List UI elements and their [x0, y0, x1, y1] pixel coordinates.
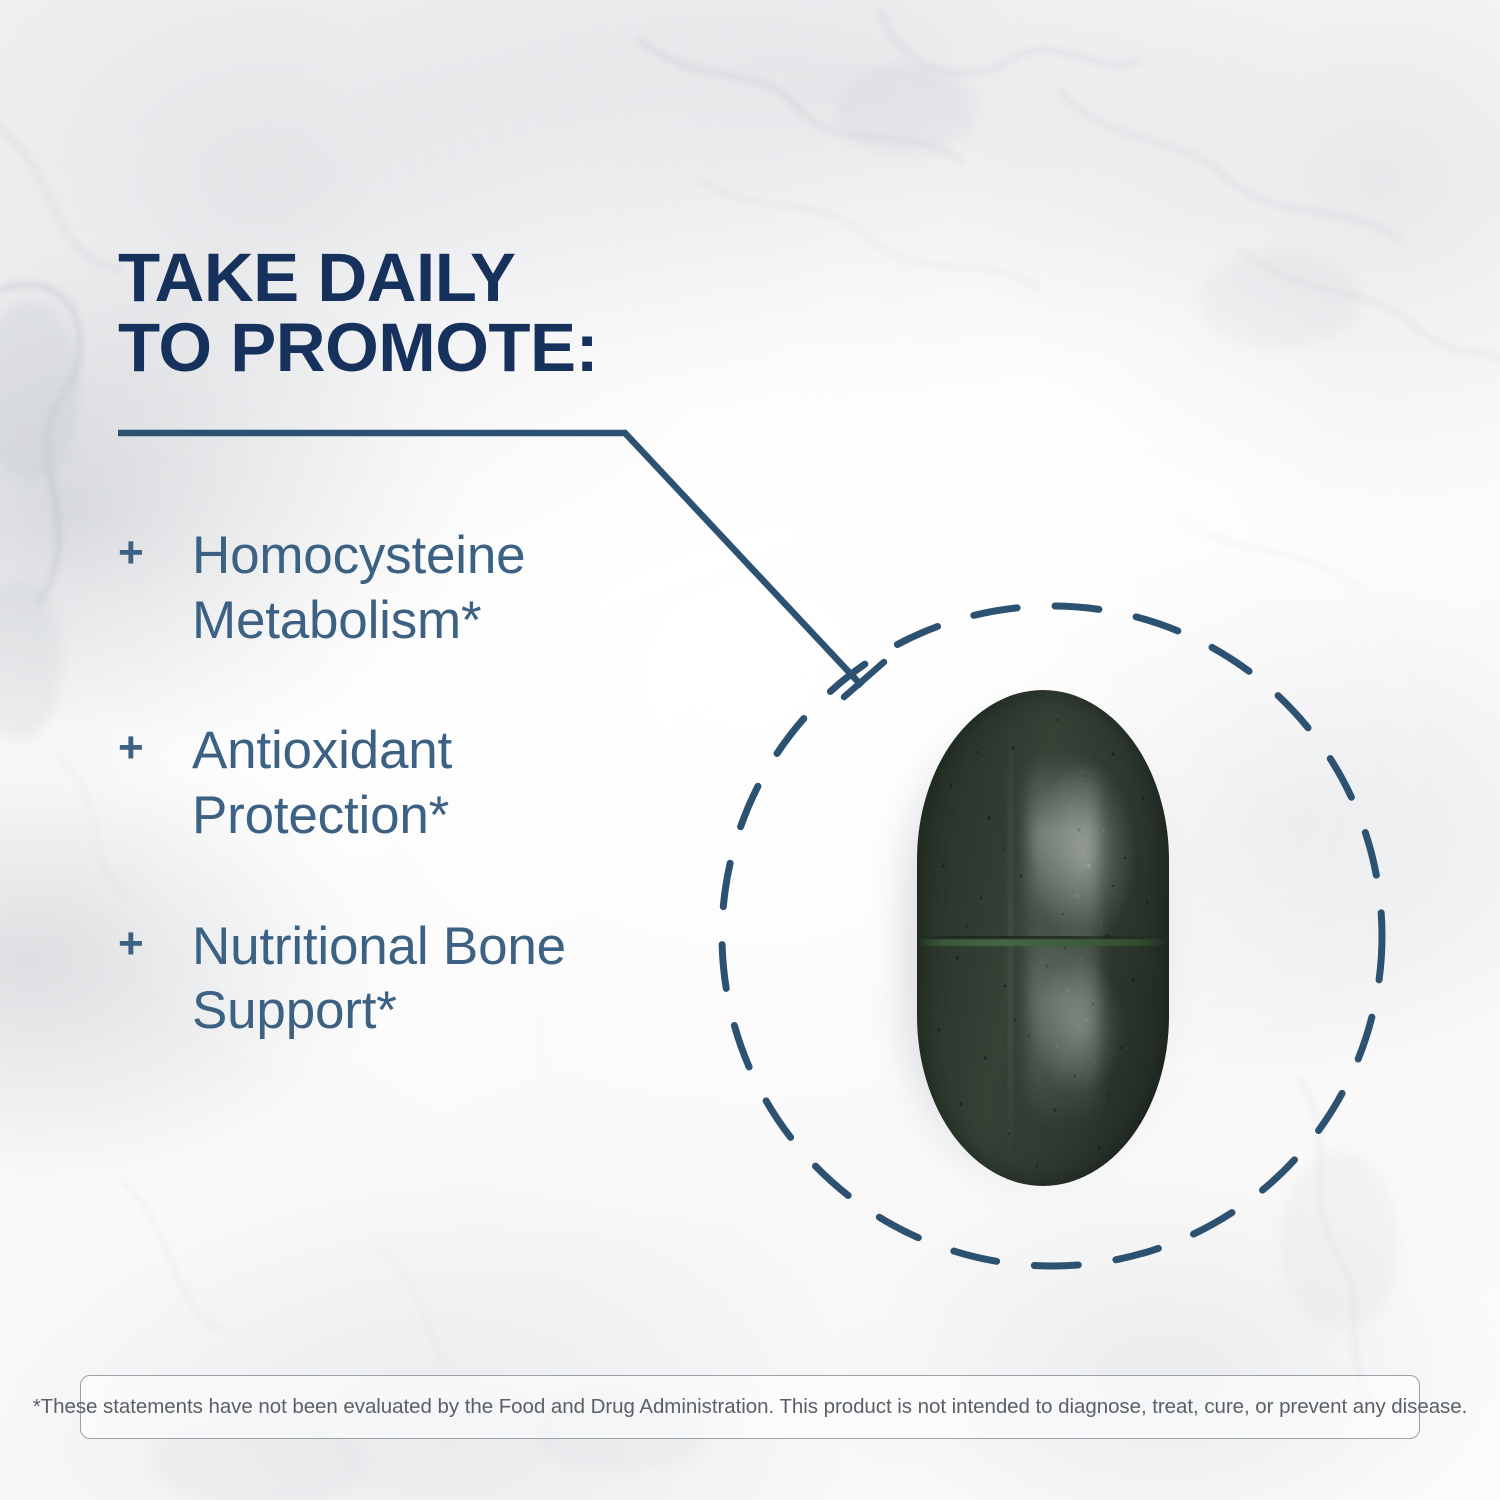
page-title: TAKE DAILY TO PROMOTE: [118, 243, 758, 384]
headline-line-2: TO PROMOTE: [118, 313, 758, 383]
plus-icon: + [118, 915, 192, 971]
tablet-body [917, 690, 1169, 1186]
headline-line-1: TAKE DAILY [118, 243, 758, 313]
benefits-list: + Homocysteine Metabolism* + Antioxidant… [118, 524, 718, 1044]
benefit-label: Homocysteine Metabolism* [192, 524, 718, 653]
benefit-label: Nutritional Bone Support* [192, 915, 718, 1044]
disclaimer-text: *These statements have not been evaluate… [33, 1395, 1468, 1419]
plus-icon: + [118, 524, 192, 580]
disclaimer-box: *These statements have not been evaluate… [80, 1375, 1420, 1439]
tablet-score-line [917, 939, 1169, 946]
list-item: + Nutritional Bone Support* [118, 915, 718, 1044]
list-item: + Homocysteine Metabolism* [118, 524, 718, 653]
product-tablet [895, 690, 1185, 1190]
product-benefits-graphic: TAKE DAILY TO PROMOTE: + Homocysteine Me… [0, 0, 1500, 1500]
benefit-label: Antioxidant Protection* [192, 719, 718, 848]
plus-icon: + [118, 719, 192, 775]
list-item: + Antioxidant Protection* [118, 719, 718, 848]
